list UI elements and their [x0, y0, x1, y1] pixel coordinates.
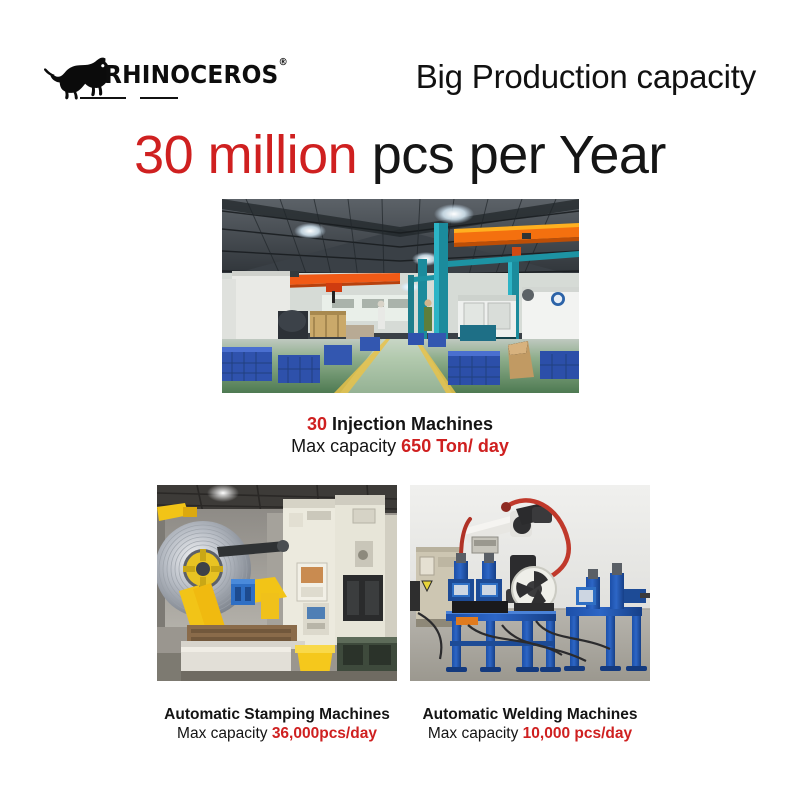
logo-underline-decoration: [80, 97, 228, 105]
stamping-capacity-prefix: Max capacity: [177, 725, 272, 742]
stamping-capacity-value: 36,000pcs/day: [272, 725, 377, 742]
welding-capacity-value: 10,000 pcs/day: [523, 725, 632, 742]
welding-capacity-prefix: Max capacity: [428, 725, 523, 742]
injection-capacity-prefix: Max capacity: [291, 436, 401, 456]
stamping-caption-title: Automatic Stamping Machines: [137, 706, 417, 725]
capacity-statement-rest: pcs per Year: [357, 125, 666, 185]
capacity-statement: 30 million pcs per Year: [0, 124, 800, 186]
stamping-caption: Automatic Stamping Machines Max capacity…: [137, 706, 417, 744]
stamping-caption-capacity: Max capacity 36,000pcs/day: [137, 725, 417, 744]
capacity-statement-highlight: 30 million: [134, 125, 357, 185]
brand-wordmark: RHINOCEROS®: [104, 60, 288, 89]
injection-capacity-value: 650 Ton/ day: [401, 436, 509, 456]
injection-caption-capacity: Max capacity 650 Ton/ day: [0, 436, 800, 458]
injection-caption-text: Injection Machines: [327, 414, 493, 434]
welding-caption-title: Automatic Welding Machines: [390, 706, 670, 725]
stamping-machine-photo: [157, 485, 397, 681]
welding-caption: Automatic Welding Machines Max capacity …: [390, 706, 670, 744]
injection-caption-number: 30: [307, 414, 327, 434]
brand-logo: RHINOCEROS®: [42, 52, 242, 108]
injection-factory-photo: [222, 199, 579, 393]
page-header: RHINOCEROS® Big Production capacity: [0, 0, 800, 112]
welding-caption-capacity: Max capacity 10,000 pcs/day: [390, 725, 670, 744]
page-title: Big Production capacity: [416, 58, 756, 96]
injection-caption: 30 Injection Machines Max capacity 650 T…: [0, 414, 800, 458]
welding-machine-photo: [410, 485, 650, 681]
injection-caption-title: 30 Injection Machines: [0, 414, 800, 436]
